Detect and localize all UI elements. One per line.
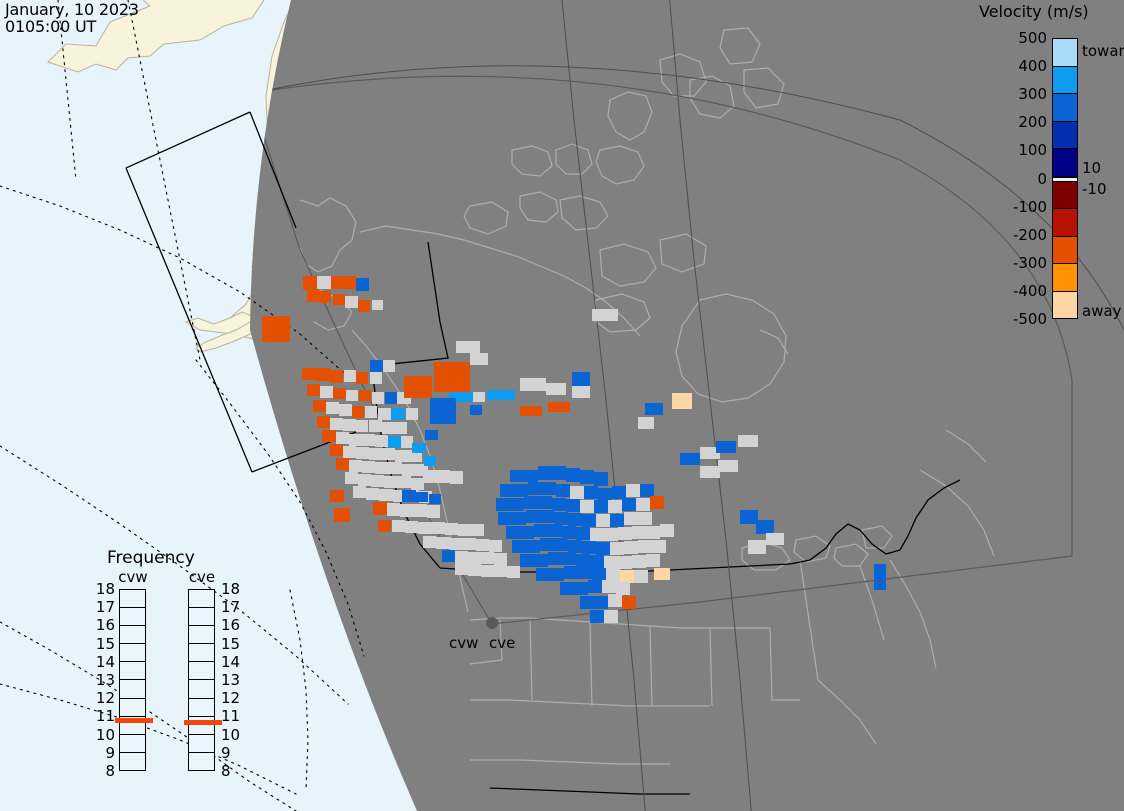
backscatter-cell	[356, 420, 368, 432]
backscatter-cell	[562, 526, 576, 539]
frequency-marker-cve	[184, 720, 222, 725]
backscatter-cell	[612, 486, 626, 499]
backscatter-cell	[626, 484, 640, 497]
backscatter-cell	[624, 541, 638, 554]
backscatter-cell	[370, 360, 383, 372]
backscatter-cell	[520, 378, 546, 391]
backscatter-cell	[307, 290, 319, 302]
backscatter-cell	[618, 556, 632, 569]
backscatter-cell	[334, 508, 350, 522]
backscatter-cell	[405, 521, 418, 533]
colorbar-tick-400: 400	[1018, 59, 1047, 74]
backscatter-cell	[594, 472, 608, 486]
backscatter-cell	[602, 580, 616, 593]
backscatter-cell	[610, 542, 624, 555]
backscatter-cell	[425, 430, 438, 440]
backscatter-cell	[379, 489, 393, 501]
frequency-bar-cvw	[119, 589, 146, 771]
backscatter-cell	[330, 490, 344, 502]
backscatter-cell	[622, 596, 636, 609]
backscatter-cell	[524, 470, 538, 482]
backscatter-cell	[608, 594, 622, 607]
frequency-bar-cve	[188, 589, 215, 771]
backscatter-cell	[336, 432, 349, 444]
backscatter-cell	[538, 466, 552, 480]
backscatter-cell	[554, 512, 568, 525]
backscatter-cell	[489, 540, 502, 552]
frequency-axis-tick: 13	[95, 673, 115, 688]
backscatter-cell	[326, 402, 339, 414]
map-label-cvw: cvw	[449, 634, 478, 652]
backscatter-cell	[450, 538, 463, 550]
backscatter-cell	[378, 520, 391, 532]
map-label-cve: cve	[489, 634, 515, 652]
backscatter-cell	[580, 470, 594, 484]
backscatter-cell	[463, 538, 476, 550]
backscatter-cell	[388, 462, 402, 474]
backscatter-cell	[473, 392, 485, 402]
colorbar-band-toward-1	[1053, 67, 1077, 95]
backscatter-cell	[640, 484, 654, 497]
backscatter-cell	[536, 568, 550, 581]
backscatter-cell	[392, 520, 405, 532]
backscatter-cell	[650, 496, 664, 509]
backscatter-cell	[500, 484, 514, 497]
backscatter-cell	[423, 470, 437, 483]
backscatter-cell	[660, 524, 674, 537]
backscatter-cell	[330, 370, 343, 383]
backscatter-cell	[365, 406, 377, 418]
backscatter-cell	[548, 552, 562, 565]
backscatter-cell	[378, 408, 391, 420]
backscatter-cell	[352, 406, 364, 418]
backscatter-cell	[401, 436, 413, 448]
radar-site-marker	[486, 617, 498, 629]
frequency-bar-cell	[189, 735, 214, 753]
backscatter-cell	[322, 430, 336, 442]
backscatter-cell	[372, 300, 383, 310]
backscatter-cell	[330, 444, 343, 456]
backscatter-cell	[346, 390, 358, 401]
frequency-bar-cell	[120, 753, 145, 770]
backscatter-cell	[540, 538, 554, 551]
backscatter-cell	[317, 276, 331, 289]
backscatter-cell	[362, 461, 375, 473]
frequency-axis-tick: 15	[95, 637, 115, 652]
backscatter-cell	[345, 472, 358, 484]
backscatter-cell	[592, 568, 606, 581]
frequency-radar-name-cvw: cvw	[116, 568, 150, 586]
colorbar-band-toward-0	[1053, 39, 1077, 67]
backscatter-cell	[506, 526, 520, 539]
backscatter-cell	[470, 353, 488, 365]
backscatter-cell	[510, 470, 524, 482]
backscatter-cell	[534, 524, 548, 537]
frequency-bar-cell	[189, 680, 214, 698]
backscatter-cell	[564, 566, 578, 579]
frequency-axis-tick: 10	[95, 728, 115, 743]
frequency-axis-tick: 11	[95, 709, 115, 724]
backscatter-cell	[566, 499, 580, 512]
backscatter-cell	[382, 448, 395, 460]
colorbar-tick-neg300: -300	[1013, 256, 1047, 271]
backscatter-cell	[481, 552, 494, 564]
colorbar-lower-threshold: -10	[1082, 180, 1107, 198]
backscatter-cell	[411, 478, 424, 490]
frequency-axis-tick: 12	[221, 691, 243, 706]
colorbar-upper-threshold: 10	[1082, 159, 1101, 177]
backscatter-cell	[400, 504, 414, 517]
backscatter-cell	[646, 526, 660, 539]
backscatter-cell	[582, 541, 596, 554]
backscatter-cell	[520, 554, 534, 567]
backscatter-cell	[450, 471, 463, 484]
backscatter-cell	[362, 434, 375, 446]
backscatter-cell	[716, 441, 736, 453]
colorbar-band-away-4	[1053, 292, 1077, 319]
backscatter-cell	[526, 510, 540, 523]
backscatter-cell	[455, 551, 468, 563]
backscatter-cell	[456, 341, 480, 353]
backscatter-cell	[512, 540, 526, 553]
backscatter-cell	[574, 582, 588, 595]
backscatter-cell	[481, 565, 494, 577]
backscatter-cell	[748, 540, 766, 554]
frequency-bar-cell	[189, 699, 214, 717]
backscatter-cell	[375, 435, 388, 447]
backscatter-cell	[578, 566, 592, 579]
velocity-colorbar: Velocity (m/s) 5004003002001000-100-200-…	[975, 0, 1124, 340]
backscatter-cell	[370, 372, 382, 384]
colorbar-tick-300: 300	[1018, 87, 1047, 102]
backscatter-cell	[418, 522, 432, 534]
frequency-bar-cell	[189, 662, 214, 680]
backscatter-cell	[307, 384, 320, 396]
backscatter-cell	[437, 470, 450, 483]
backscatter-cell	[540, 510, 554, 523]
frequency-bar-cell	[120, 644, 145, 662]
backscatter-cell	[358, 300, 370, 312]
backscatter-cell	[455, 563, 468, 575]
colorbar-tick-neg100: -100	[1013, 200, 1047, 215]
backscatter-cell	[336, 458, 349, 470]
backscatter-cell	[317, 416, 330, 428]
backscatter-cell	[588, 580, 602, 593]
timestamp-time: 0105:00 UT	[5, 18, 139, 35]
backscatter-cell	[501, 390, 515, 400]
backscatter-cell	[766, 533, 784, 545]
backscatter-cell	[556, 484, 570, 497]
backscatter-cell	[331, 276, 343, 289]
backscatter-cell	[424, 456, 436, 466]
backscatter-cell	[594, 500, 608, 513]
backscatter-cell	[429, 494, 441, 504]
backscatter-cell	[576, 527, 590, 540]
backscatter-cell	[520, 406, 542, 416]
backscatter-cell	[416, 492, 428, 502]
backscatter-cell	[302, 368, 316, 380]
frequency-axis-tick: 14	[95, 655, 115, 670]
frequency-bar-cell	[120, 590, 145, 608]
colorbar-tick-neg400: -400	[1013, 284, 1047, 299]
colorbar-title: Velocity (m/s)	[979, 2, 1124, 21]
frequency-bar-cell	[120, 626, 145, 644]
frequency-axis-tick: 18	[221, 582, 243, 597]
backscatter-cell	[507, 566, 520, 578]
backscatter-cell	[552, 498, 566, 511]
backscatter-cell	[371, 475, 384, 487]
backscatter-cell	[632, 555, 646, 568]
backscatter-cell	[562, 552, 576, 565]
colorbar-band-away-3	[1053, 264, 1077, 292]
backscatter-cell	[618, 527, 632, 540]
backscatter-cell	[423, 536, 436, 548]
backscatter-cell	[528, 482, 542, 495]
backscatter-cell	[356, 447, 369, 459]
backscatter-cell	[434, 362, 470, 392]
backscatter-cell	[384, 476, 398, 488]
backscatter-cell	[356, 278, 369, 291]
backscatter-cell	[387, 503, 400, 516]
colorbar-band-toward-4	[1053, 149, 1077, 177]
backscatter-cell	[636, 498, 650, 511]
backscatter-cell	[406, 408, 418, 420]
frequency-axis-tick: 17	[95, 600, 115, 615]
frequency-axis-tick: 18	[95, 582, 115, 597]
frequency-panel: Frequency cvw18171615141312111098cve1817…	[85, 548, 245, 798]
backscatter-cell	[520, 526, 534, 539]
backscatter-cell	[514, 484, 528, 497]
frequency-title: Frequency	[107, 548, 195, 568]
backscatter-cell	[638, 512, 652, 525]
colorbar-tick-0: 0	[1037, 172, 1047, 187]
backscatter-cell	[388, 436, 401, 448]
backscatter-cell	[672, 393, 692, 409]
backscatter-cell	[494, 565, 507, 577]
frequency-bar-cell	[120, 608, 145, 626]
colorbar-toward-label: toward	[1082, 42, 1124, 60]
backscatter-cell	[414, 504, 427, 517]
backscatter-cell	[590, 528, 604, 541]
frequency-bar-cell	[120, 680, 145, 698]
frequency-axis-tick: 16	[221, 618, 243, 633]
backscatter-cell	[427, 505, 440, 518]
backscatter-cell	[645, 403, 663, 415]
colorbar-tick-200: 200	[1018, 115, 1047, 130]
backscatter-cell	[366, 488, 379, 500]
frequency-axis-tick: 12	[95, 691, 115, 706]
backscatter-cell	[632, 526, 646, 539]
backscatter-cell	[580, 500, 594, 513]
backscatter-cell	[550, 568, 564, 581]
backscatter-cell	[320, 386, 333, 398]
backscatter-cell	[442, 550, 455, 562]
backscatter-cell	[369, 448, 382, 460]
backscatter-cell	[383, 360, 395, 372]
backscatter-cell	[496, 498, 510, 511]
frequency-bar-cell	[120, 735, 145, 753]
backscatter-cell	[604, 610, 618, 623]
backscatter-cell	[395, 422, 407, 434]
backscatter-cell	[580, 596, 594, 609]
frequency-bar-cell	[189, 608, 214, 626]
backscatter-cell	[584, 486, 598, 499]
colorbar-strip	[1052, 38, 1078, 319]
frequency-bar-cell	[120, 699, 145, 717]
backscatter-cell	[624, 512, 638, 525]
colorbar-band-away-0	[1053, 182, 1077, 210]
backscatter-cell	[604, 528, 618, 541]
backscatter-cell	[576, 554, 590, 567]
backscatter-cell	[554, 538, 568, 551]
backscatter-cell	[412, 443, 426, 453]
backscatter-cell	[538, 496, 552, 509]
backscatter-cell	[512, 512, 526, 525]
backscatter-cell	[339, 404, 352, 416]
backscatter-cell	[718, 460, 738, 472]
backscatter-cell	[634, 570, 648, 583]
backscatter-cell	[402, 464, 415, 476]
frequency-axis-tick: 10	[221, 728, 243, 743]
backscatter-cell	[622, 498, 636, 511]
frequency-axis-tick: 17	[221, 600, 243, 615]
backscatter-cell	[430, 398, 456, 424]
backscatter-cell	[610, 514, 624, 527]
backscatter-cell	[402, 490, 416, 502]
radar-fan-plot: January, 10 2023 0105:00 UT cvw cve Velo…	[0, 0, 1124, 811]
backscatter-cell	[510, 498, 524, 511]
backscatter-cell	[445, 523, 458, 535]
backscatter-cell	[740, 510, 758, 524]
timestamp: January, 10 2023 0105:00 UT	[5, 1, 139, 35]
backscatter-cell	[592, 309, 618, 321]
frequency-axis-tick: 13	[221, 673, 243, 688]
frequency-bar-cell	[189, 590, 214, 608]
backscatter-cell	[604, 556, 618, 569]
backscatter-cell	[582, 514, 596, 527]
backscatter-cell	[330, 418, 343, 430]
backscatter-cell	[373, 502, 387, 515]
backscatter-cell	[316, 368, 330, 381]
backscatter-cell	[700, 466, 720, 478]
backscatter-cell	[594, 596, 608, 609]
backscatter-cell	[333, 294, 345, 305]
colorbar-band-away-1	[1053, 209, 1077, 237]
backscatter-cell	[616, 582, 630, 595]
backscatter-cell	[572, 386, 590, 398]
backscatter-cell	[432, 522, 445, 534]
backscatter-cell	[303, 276, 317, 290]
backscatter-cell	[345, 296, 358, 308]
frequency-bar-cell	[189, 644, 214, 662]
backscatter-cell	[458, 524, 471, 536]
backscatter-cell	[471, 524, 484, 536]
backscatter-cell	[526, 540, 540, 553]
timestamp-date: January, 10 2023	[5, 1, 139, 18]
backscatter-cell	[652, 540, 666, 553]
backscatter-cell	[343, 276, 356, 289]
backscatter-cell	[349, 460, 362, 472]
backscatter-cell	[262, 316, 290, 342]
backscatter-cell	[468, 564, 481, 576]
backscatter-cell	[548, 402, 570, 412]
frequency-axis-tick: 16	[95, 618, 115, 633]
colorbar-tick-100: 100	[1018, 143, 1047, 158]
backscatter-cell	[487, 390, 501, 400]
frequency-axis-tick: 11	[221, 709, 243, 724]
backscatter-cell	[343, 446, 356, 458]
backscatter-cell	[620, 570, 634, 583]
backscatter-cell	[385, 392, 397, 404]
backscatter-cell	[608, 500, 622, 513]
backscatter-cell	[874, 564, 886, 590]
backscatter-cell	[646, 554, 660, 567]
backscatter-cell	[349, 434, 362, 446]
backscatter-cell	[343, 419, 356, 431]
frequency-axis-tick: 8	[221, 764, 243, 779]
frequency-marker-cvw	[115, 718, 153, 723]
colorbar-band-toward-3	[1053, 122, 1077, 150]
colorbar-tick-neg500: -500	[1013, 312, 1047, 327]
backscatter-cell	[638, 417, 654, 429]
backscatter-cell	[524, 496, 538, 509]
backscatter-cell	[546, 383, 566, 395]
backscatter-cell	[572, 372, 590, 386]
backscatter-cell	[476, 539, 489, 551]
backscatter-cell	[313, 400, 326, 412]
backscatter-cell	[494, 553, 507, 565]
frequency-axis-tick: 9	[221, 746, 243, 761]
backscatter-cell	[568, 513, 582, 526]
backscatter-cell	[570, 486, 584, 499]
backscatter-cell	[359, 390, 371, 401]
backscatter-cell	[654, 568, 670, 580]
backscatter-cell	[358, 474, 371, 486]
backscatter-cell	[542, 482, 556, 495]
backscatter-cell	[534, 554, 548, 567]
backscatter-cell	[382, 422, 395, 434]
backscatter-cell	[344, 370, 356, 382]
backscatter-cell	[568, 540, 582, 553]
backscatter-cell	[552, 466, 566, 480]
colorbar-away-label: away	[1082, 302, 1122, 320]
backscatter-cell	[369, 420, 382, 432]
backscatter-cell	[436, 537, 450, 549]
frequency-axis-tick: 8	[95, 764, 115, 779]
backscatter-cell	[596, 514, 610, 527]
frequency-radar-name-cve: cve	[185, 568, 219, 586]
colorbar-band-toward-2	[1053, 94, 1077, 122]
colorbar-band-away-2	[1053, 237, 1077, 265]
backscatter-cell	[356, 372, 368, 384]
backscatter-cell	[756, 520, 774, 534]
backscatter-cell	[680, 453, 700, 465]
backscatter-cell	[590, 610, 604, 623]
colorbar-tick-labels: 5004003002001000-100-200-300-400-500	[975, 30, 1047, 325]
backscatter-cell	[404, 376, 432, 398]
backscatter-cell	[395, 450, 408, 462]
frequency-axis-tick: 9	[95, 746, 115, 761]
backscatter-cell	[319, 291, 331, 303]
backscatter-cell	[560, 582, 574, 595]
backscatter-cell	[353, 486, 366, 498]
backscatter-cell	[738, 435, 758, 447]
backscatter-cell	[596, 542, 610, 555]
frequency-bar-cell	[189, 753, 214, 770]
backscatter-cell	[590, 555, 604, 568]
frequency-axis-tick: 14	[221, 655, 243, 670]
frequency-bar-cell	[189, 626, 214, 644]
